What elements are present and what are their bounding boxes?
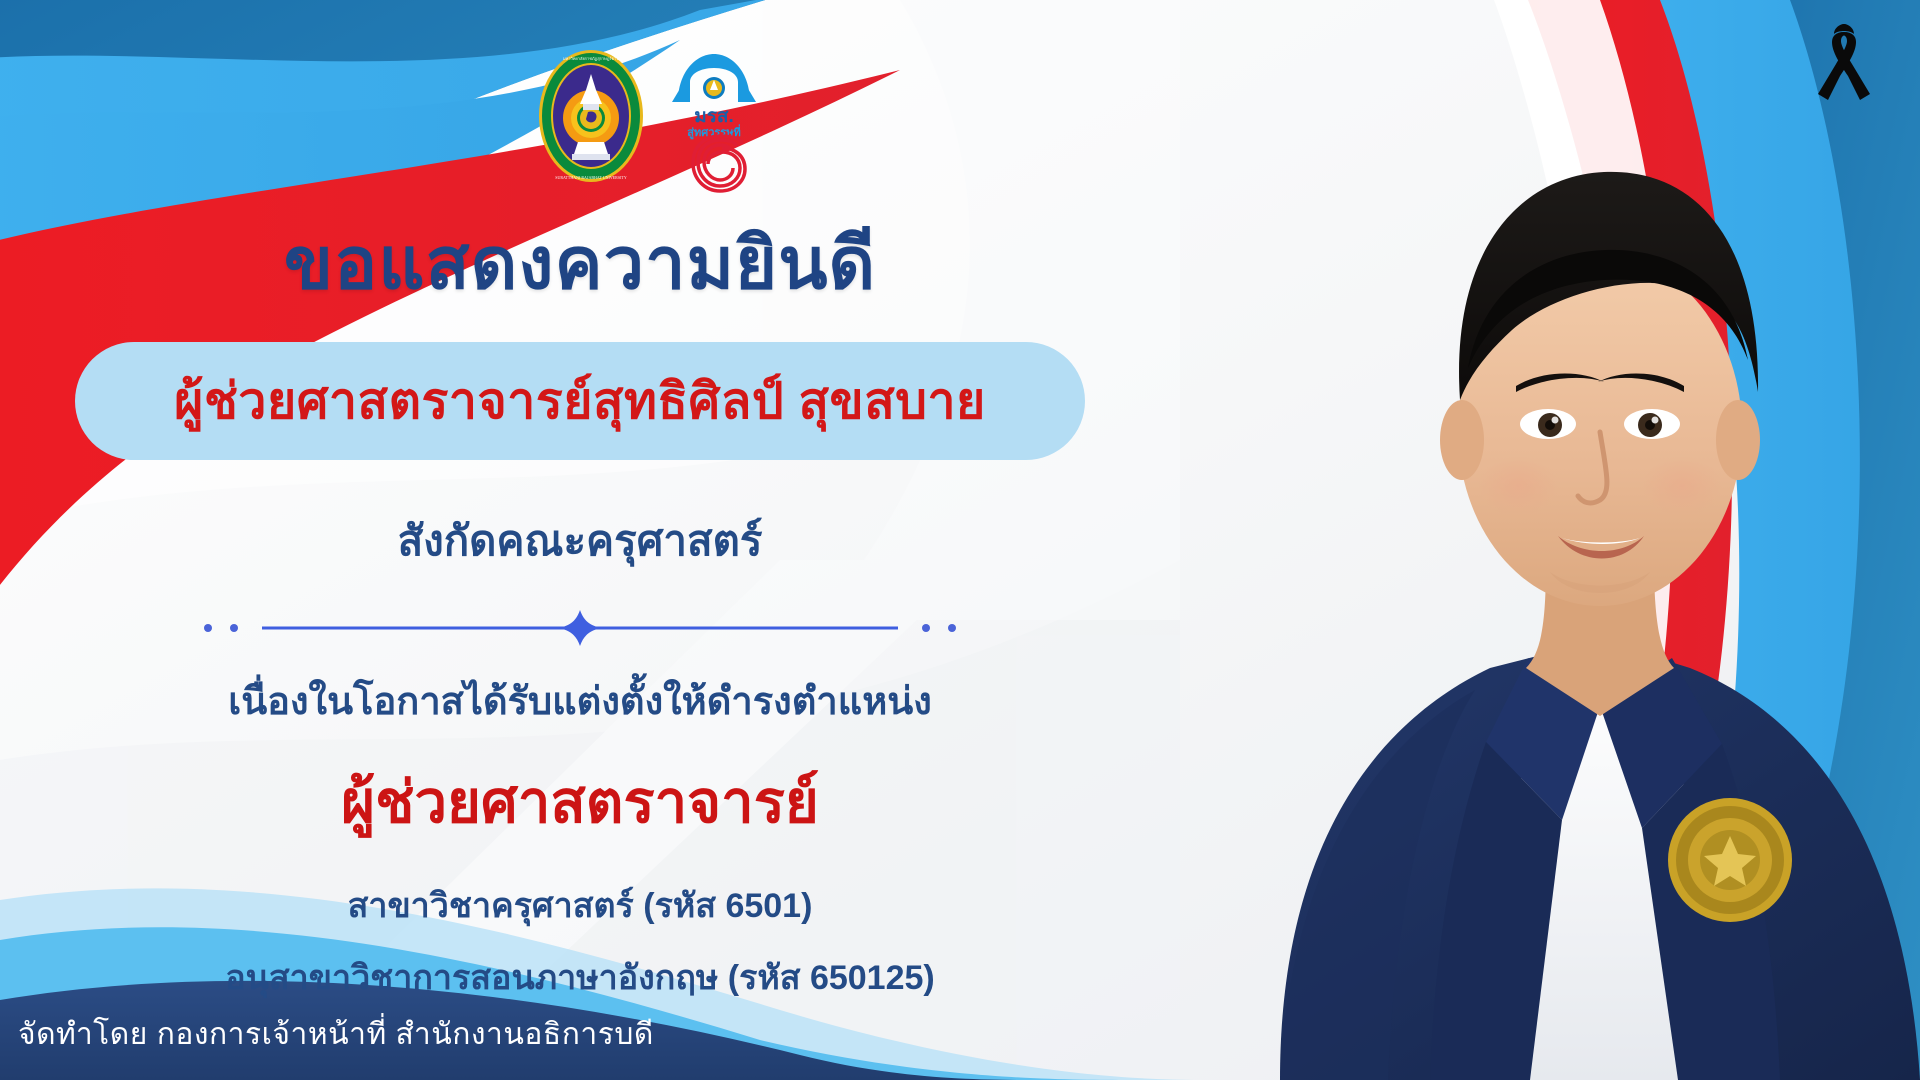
honoree-photo [1160, 0, 1920, 1080]
occasion-text: เนื่องในโอกาสได้รับแต่งตั้งให้ดำรงตำแหน่… [228, 670, 932, 731]
field-of-study: สาขาวิชาครุศาสตร์ (รหัส 6501) [348, 878, 813, 932]
honoree-name: ผู้ช่วยศาสตราจารย์สุทธิศิลป์ สุขสบาย [174, 362, 986, 441]
page-title: ขอแสดงความยินดี [284, 228, 876, 300]
black-mourning-ribbon-icon [1808, 18, 1880, 110]
subfield-of-study: อนุสาขาวิชาการสอนภาษาอังกฤษ (รหัส 650125… [225, 950, 934, 1004]
honoree-name-pill: ผู้ช่วยศาสตราจารย์สุทธิศิลป์ สุขสบาย [75, 342, 1085, 460]
academic-position: ผู้ช่วยศาสตราจารย์ [341, 755, 819, 848]
card-content: ขอแสดงความยินดี ผู้ช่วยศาสตราจารย์สุทธิศ… [0, 0, 1160, 1010]
faculty-affiliation: สังกัดคณะครุศาสตร์ [398, 508, 763, 574]
footer-credit: จัดทำโดย กองการเจ้าหน้าที่ สำนักงานอธิกา… [18, 1011, 654, 1058]
congratulation-card: มหาวิทยาลัยราชภัฏสุราษฎร์ธานี SURATTHANI… [0, 0, 1920, 1080]
decorative-divider [200, 608, 960, 648]
divider-sparkle-icon [200, 608, 960, 648]
